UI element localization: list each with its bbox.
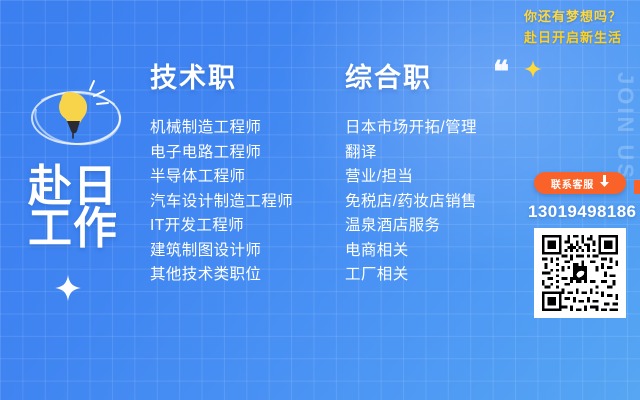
join-us-watermark: JOIN US bbox=[612, 72, 638, 181]
list-item: 日本市场开拓/管理 bbox=[345, 116, 477, 141]
poster-canvas: 赴日 工作 技术职 机械制造工程师 电子电路工程师 半导体工程师 汽车设计制造工… bbox=[0, 0, 640, 400]
list-item: 电商相关 bbox=[345, 239, 477, 264]
column-technical-heading: 技术职 bbox=[150, 56, 293, 95]
column-technical-list: 机械制造工程师 电子电路工程师 半导体工程师 汽车设计制造工程师 IT开发工程师… bbox=[150, 116, 293, 288]
column-general-heading: 综合职 bbox=[345, 56, 477, 95]
qr-code[interactable] bbox=[534, 228, 626, 318]
brand-title-line1: 赴日 bbox=[28, 166, 118, 208]
brand-block: 赴日 工作 bbox=[0, 0, 140, 400]
list-item: 机械制造工程师 bbox=[150, 116, 293, 141]
brand-title-line2: 工作 bbox=[28, 208, 118, 250]
lightbulb-icon bbox=[24, 78, 128, 156]
column-general-list: 日本市场开拓/管理 翻译 营业/担当 免税店/药妆店销售 温泉酒店服务 电商相关… bbox=[345, 116, 477, 288]
phone-number: 13019498186 bbox=[528, 202, 632, 222]
contact-support-button[interactable]: 联系客服 bbox=[534, 172, 626, 194]
list-item: 温泉酒店服务 bbox=[345, 214, 477, 239]
list-item: 半导体工程师 bbox=[150, 165, 293, 190]
list-item: 电子电路工程师 bbox=[150, 141, 293, 166]
four-point-star-icon bbox=[524, 60, 542, 78]
brand-title: 赴日 工作 bbox=[28, 166, 118, 250]
list-item: 翻译 bbox=[345, 141, 477, 166]
sparkle-star-icon bbox=[54, 274, 82, 302]
slogan-block: 你还有梦想吗？ 赴日开启新生活 bbox=[524, 6, 622, 48]
list-item: IT开发工程师 bbox=[150, 214, 293, 239]
list-item: 营业/担当 bbox=[345, 165, 477, 190]
list-item: 免税店/药妆店销售 bbox=[345, 190, 477, 215]
slogan-line1: 你还有梦想吗？ bbox=[524, 6, 622, 27]
quote-mark-icon: ❝ bbox=[493, 58, 509, 88]
contact-support-label: 联系客服 bbox=[551, 176, 594, 191]
list-item: 建筑制图设计师 bbox=[150, 239, 293, 264]
column-technical: 技术职 机械制造工程师 电子电路工程师 半导体工程师 汽车设计制造工程师 IT开… bbox=[150, 56, 293, 288]
list-item: 汽车设计制造工程师 bbox=[150, 190, 293, 215]
arrow-down-icon bbox=[600, 174, 609, 192]
slogan-line2: 赴日开启新生活 bbox=[524, 27, 622, 48]
list-item: 工厂相关 bbox=[345, 263, 477, 288]
edge-accent-strip bbox=[634, 180, 640, 194]
column-general: 综合职 日本市场开拓/管理 翻译 营业/担当 免税店/药妆店销售 温泉酒店服务 … bbox=[345, 56, 477, 288]
list-item: 其他技术类职位 bbox=[150, 263, 293, 288]
